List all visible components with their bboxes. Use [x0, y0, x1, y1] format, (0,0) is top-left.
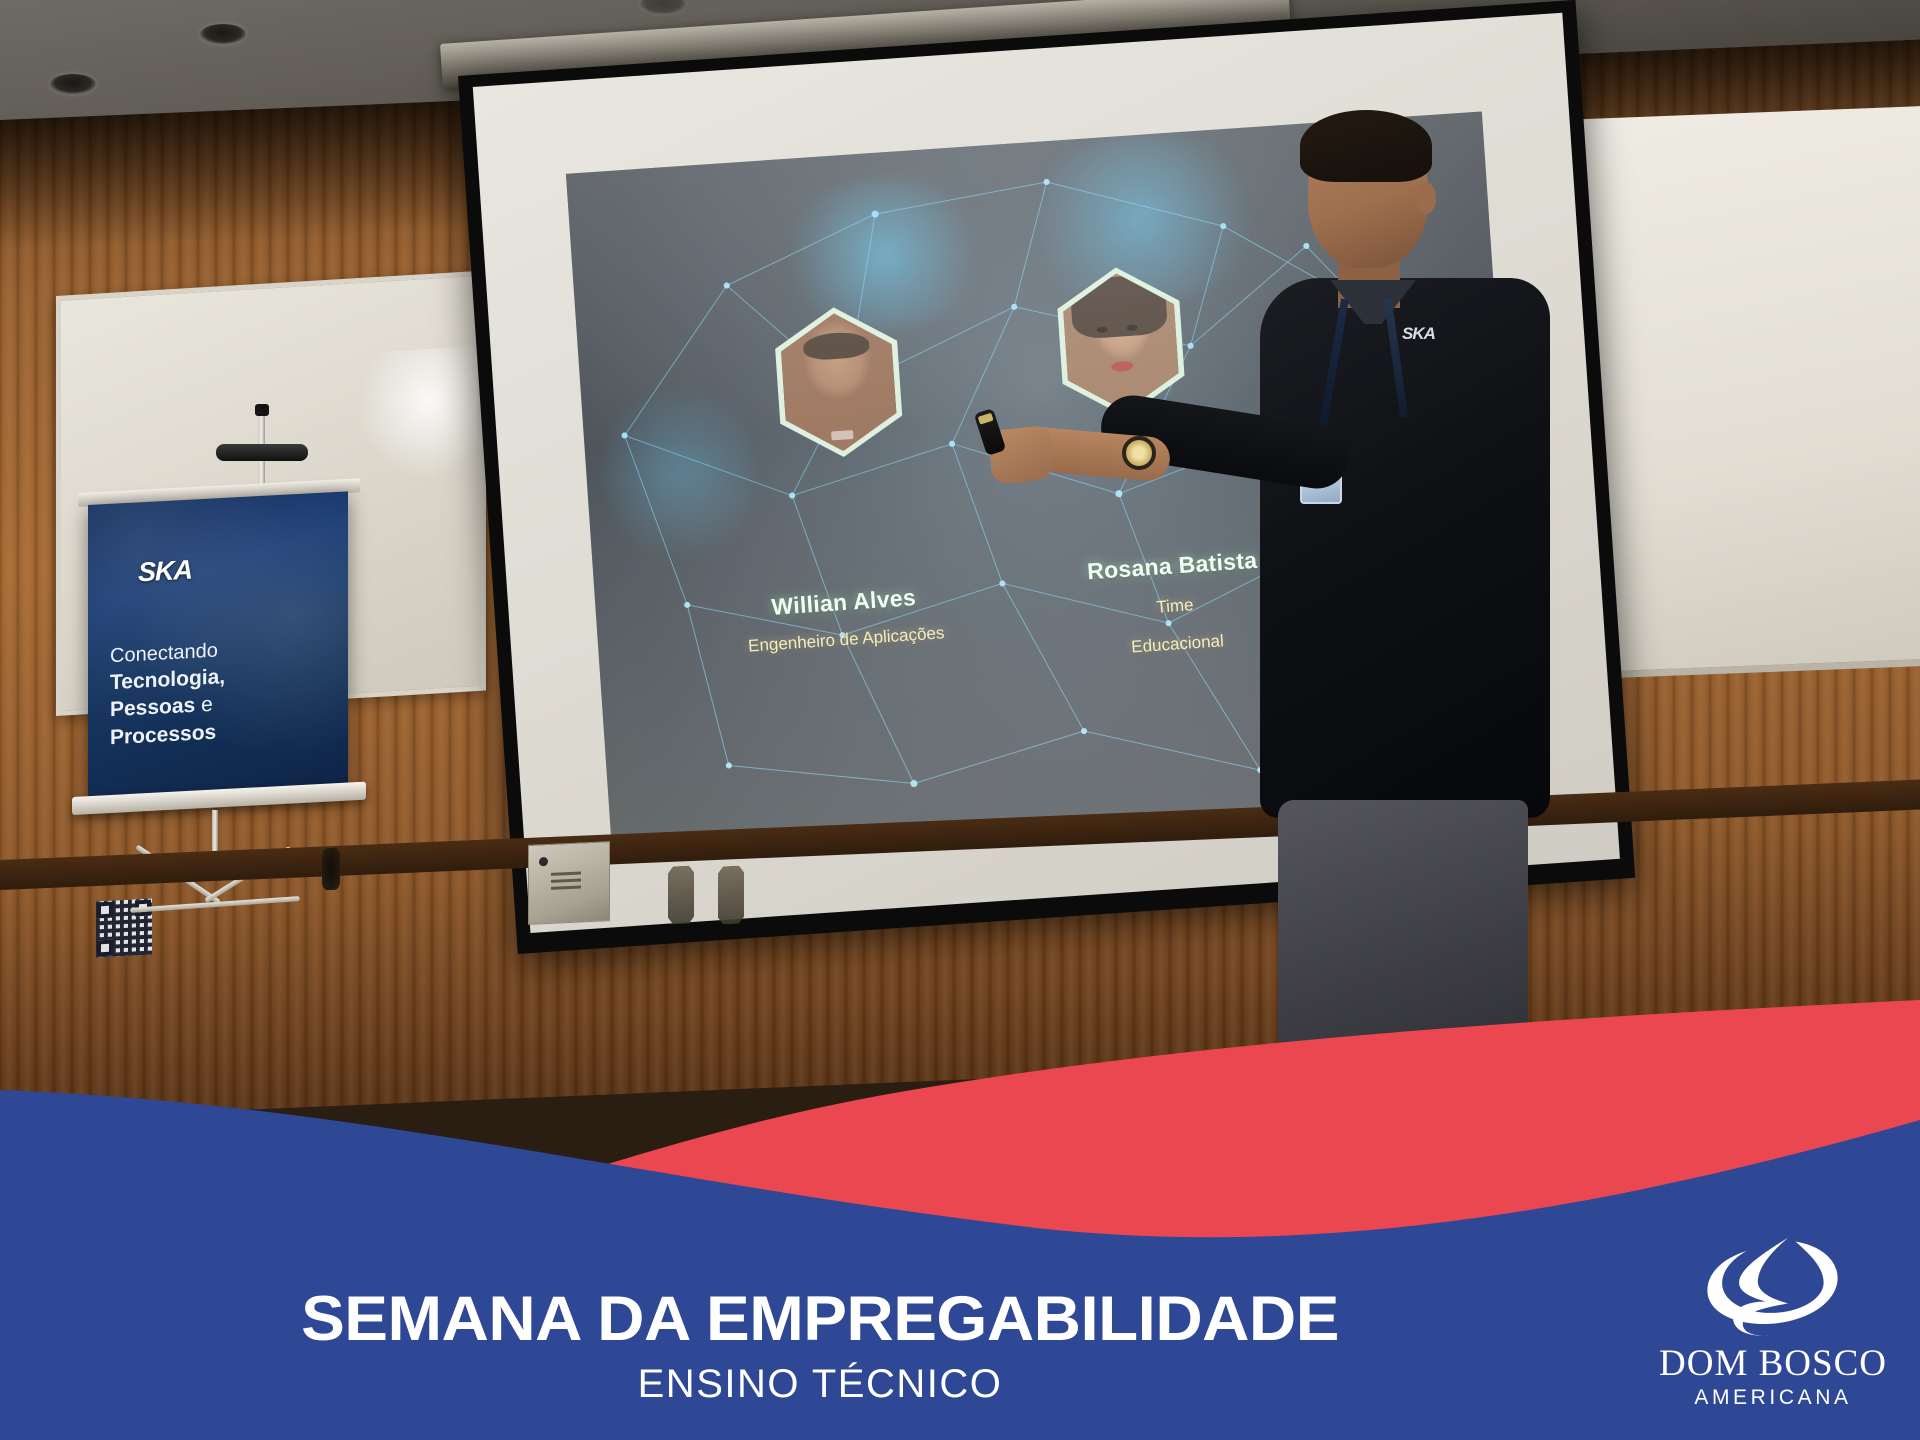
- screenshot-root: SKA Conectando Tecnologia, Pessoas e Pro…: [0, 0, 1920, 1440]
- wall-plate-2: [718, 865, 744, 924]
- banner-line-3-bold: Pessoas: [110, 694, 195, 721]
- wall-plate-1: [668, 865, 694, 924]
- avatar-photo-male: [775, 309, 902, 455]
- panel-indicator-icon: [539, 857, 548, 866]
- presenter: SKA: [1230, 110, 1580, 990]
- ska-banner-text: Conectando Tecnologia, Pessoas e Process…: [110, 633, 310, 751]
- clicker-tip: [978, 413, 994, 425]
- avatar: [769, 303, 909, 461]
- crucifix-top: [255, 404, 269, 416]
- event-subtitle: ENSINO TÉCNICO: [0, 1362, 1640, 1407]
- wall-hole: [322, 848, 340, 891]
- ceiling-downlight-2: [200, 24, 246, 44]
- presenter-torso: [1260, 278, 1550, 818]
- wall-control-panel: [528, 841, 610, 925]
- whiteboard-glare: [357, 346, 477, 483]
- presenter-hair: [1300, 110, 1432, 182]
- wristwatch-icon: [1122, 436, 1156, 470]
- slide-glow-3: [599, 368, 762, 578]
- crucifix-arms: [216, 444, 308, 461]
- banner-line-3-rest: e: [195, 693, 213, 717]
- photo-scene: SKA Conectando Tecnologia, Pessoas e Pro…: [0, 0, 1920, 1440]
- ska-shirt-logo-icon: SKA: [1402, 324, 1435, 344]
- ceiling-downlight-1: [50, 74, 96, 94]
- presenter-legs: [1278, 800, 1528, 1120]
- event-title: SEMANA DA EMPREGABILIDADE: [0, 1283, 1673, 1355]
- presenter-ear: [1416, 182, 1436, 214]
- institution-name: DOM BOSCO: [1648, 1342, 1898, 1385]
- speaker-role-1: Engenheiro de Aplicações: [662, 614, 1030, 664]
- ska-logo-icon: SKA: [138, 553, 230, 588]
- dom-bosco-swoosh-icon: [1698, 1232, 1848, 1340]
- slide-glow-1: [769, 173, 999, 338]
- avatar-photo-female: [1057, 269, 1184, 415]
- qr-eye-tl: [97, 902, 113, 919]
- institution-logo: DOM BOSCO AMERICANA: [1648, 1232, 1898, 1410]
- institution-city: AMERICANA: [1648, 1386, 1898, 1410]
- qr-eye-bl: [97, 940, 113, 957]
- speaker-name-1: Willian Alves: [706, 580, 982, 626]
- panel-label-lines: [551, 871, 581, 875]
